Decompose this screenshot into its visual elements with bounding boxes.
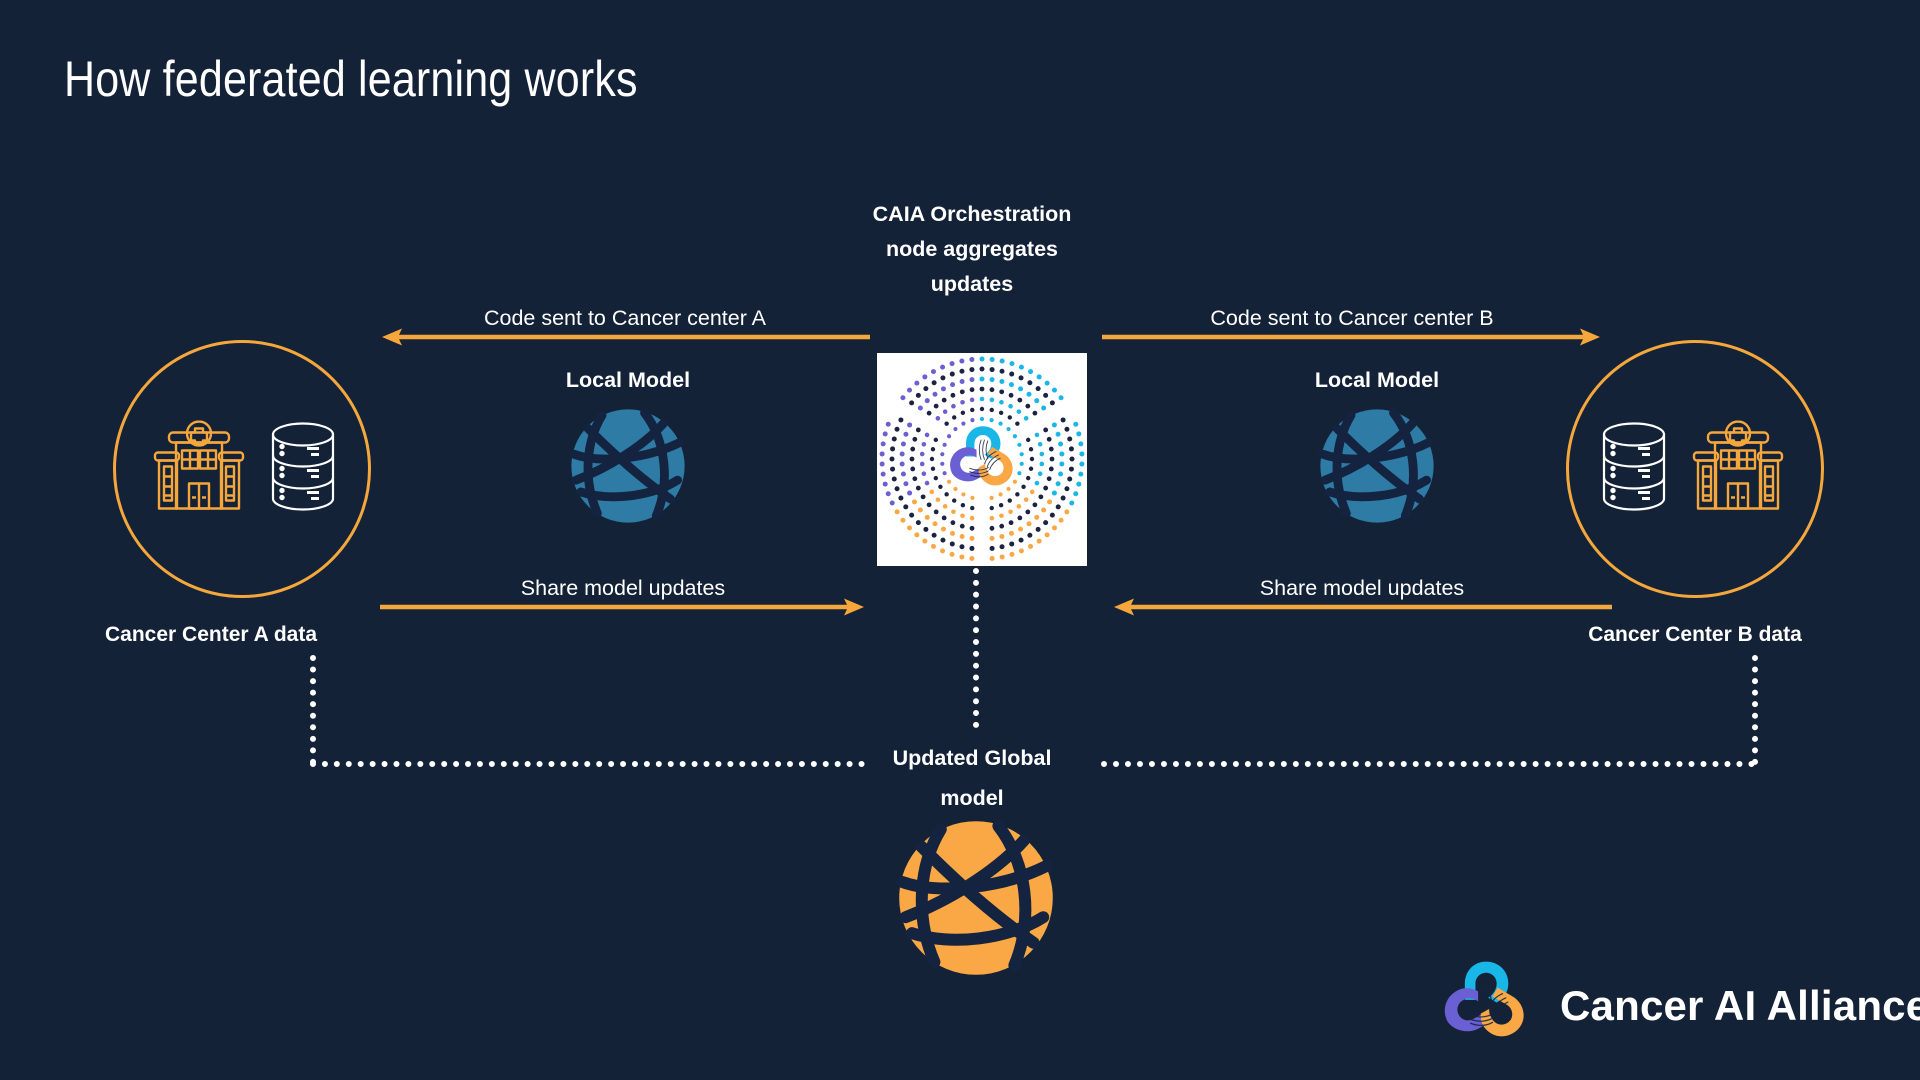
flow-share-updates-a: Share model updates (380, 554, 866, 616)
page-title: How federated learning works (64, 50, 638, 108)
local-model-a: Local Model (518, 368, 738, 525)
dotted-connector-right-vertical (1752, 655, 1758, 765)
cancer-center-b-icons (1598, 421, 1792, 518)
cancer-center-a-label: Cancer Center A data (105, 623, 317, 647)
cancer-center-b-label: Cancer Center B data (1566, 623, 1824, 647)
updated-global-model-label: Updated Global model (862, 738, 1082, 818)
hospital-icon (145, 421, 253, 518)
local-model-a-title: Local Model (518, 368, 738, 393)
dotted-connector-right-horizontal (1101, 761, 1755, 767)
flow-code-to-center-a: Code sent to Cancer center A (380, 284, 870, 346)
cancer-center-a-circle (113, 340, 371, 598)
globe-icon (1267, 407, 1487, 525)
dotted-connector-left-horizontal (310, 761, 865, 767)
brand-name: Cancer AI Alliance (1560, 982, 1920, 1030)
dotted-connector-left-vertical (310, 655, 316, 765)
database-icon (1598, 421, 1670, 518)
caia-orchestration-heading: CAIA Orchestration node aggregates updat… (852, 197, 1092, 302)
globe-icon (896, 818, 1056, 978)
local-model-b-title: Local Model (1267, 368, 1487, 393)
local-model-b: Local Model (1267, 368, 1487, 525)
hospital-icon (1684, 421, 1792, 518)
database-icon (267, 421, 339, 518)
brand-logo: Cancer AI Alliance (1432, 950, 1920, 1061)
dotted-connector-center-vertical (973, 568, 979, 728)
three-hands-logo-icon (1432, 950, 1538, 1061)
flow-share-updates-b: Share model updates (1112, 554, 1612, 616)
updated-global-model-line1: Updated Global (862, 738, 1082, 778)
caia-orchestration-node-icon (877, 353, 1087, 566)
slide-canvas: How federated learning works CAIA Orches… (0, 0, 1920, 1080)
globe-icon (518, 407, 738, 525)
updated-global-model-line2: model (862, 778, 1082, 818)
flow-code-to-center-b: Code sent to Cancer center B (1102, 284, 1602, 346)
cancer-center-a-icons (145, 421, 339, 518)
